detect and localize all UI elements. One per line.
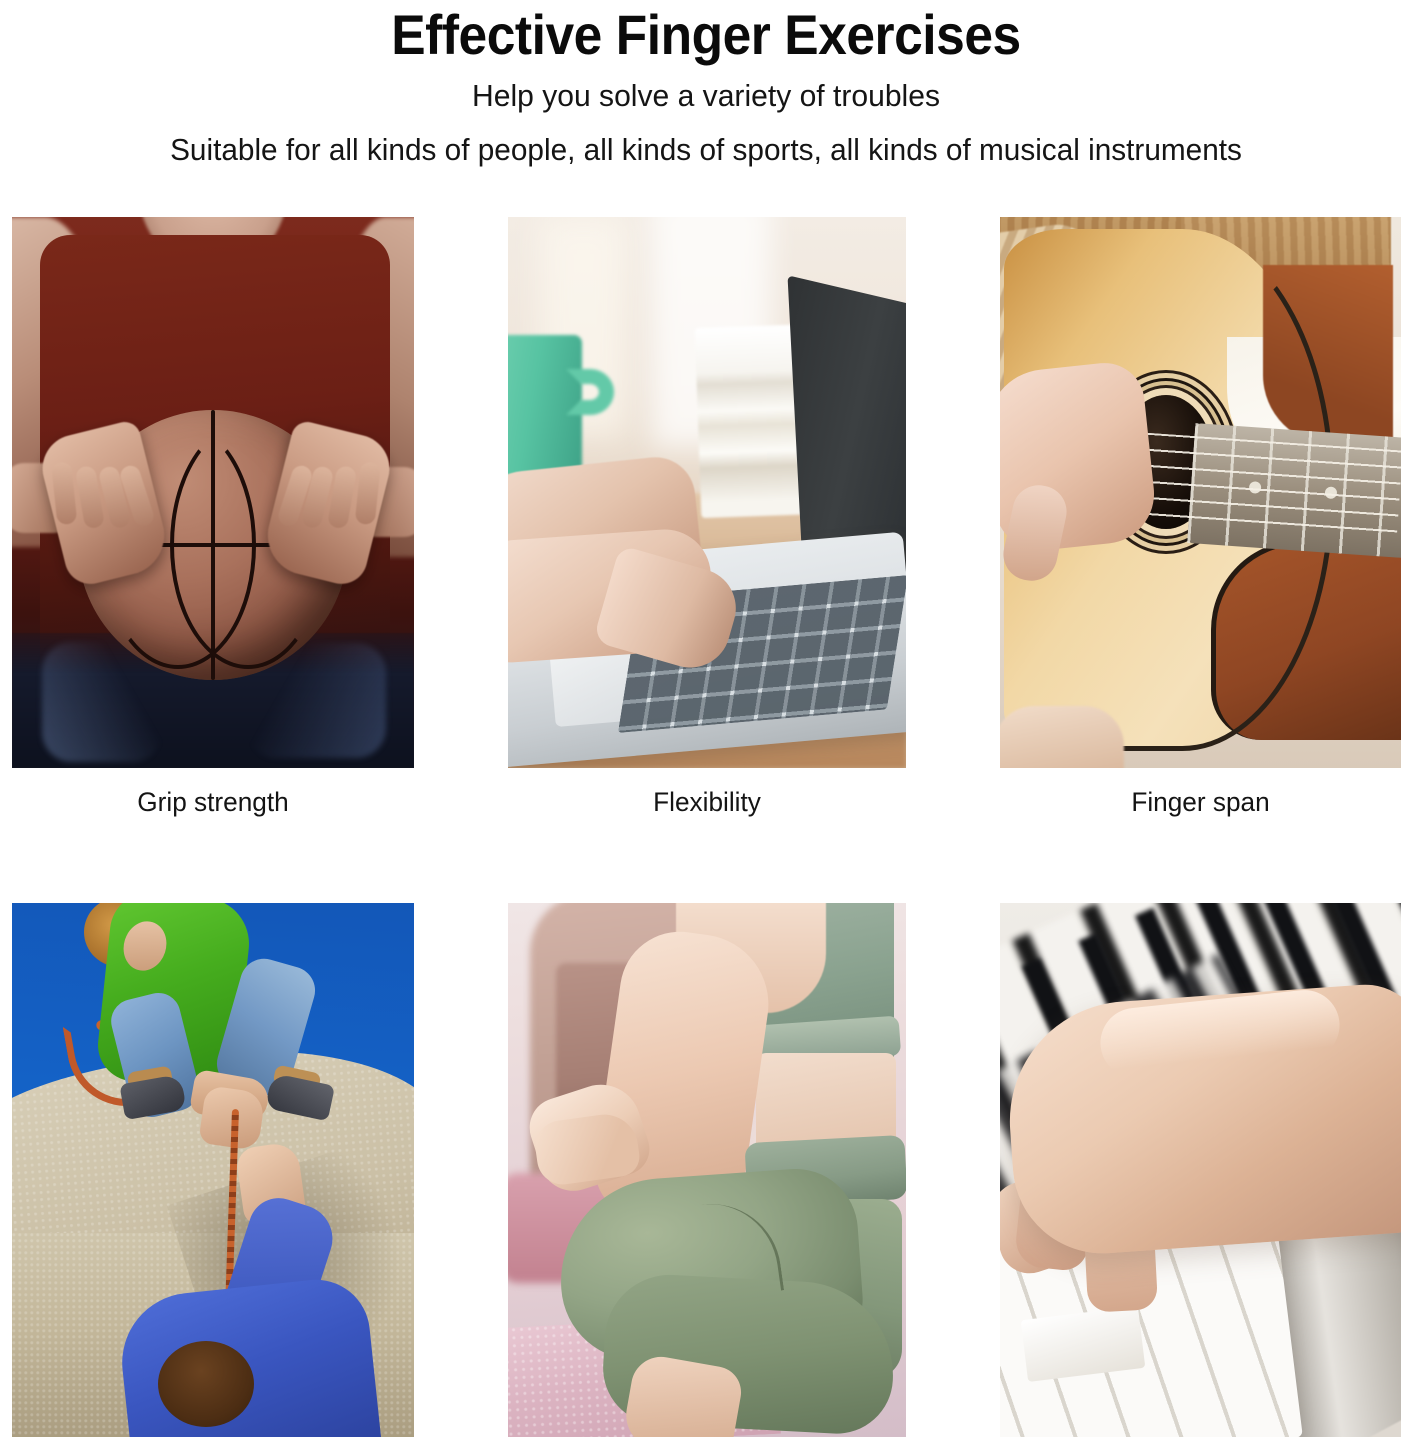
photo-basketball-grip <box>12 217 414 768</box>
gallery-item-coordination: Coordination <box>508 903 906 1444</box>
caption-grip-strength: Grip strength <box>18 785 408 819</box>
finger <box>355 461 381 525</box>
finger <box>51 461 77 525</box>
page-title: Effective Finger Exercises <box>56 4 1355 66</box>
photo-laptop-typing <box>508 217 906 768</box>
mug-handle <box>566 369 614 415</box>
caption-finger-span: Finger span <box>1006 785 1395 819</box>
gallery-item-intensity: Intensity <box>1000 903 1401 1444</box>
benefit-gallery: Grip strength Flexibility <box>12 217 1400 1444</box>
photo-rock-climbing <box>12 903 414 1437</box>
gallery-item-grip-strength: Grip strength <box>12 217 414 819</box>
subtitle-secondary: Suitable for all kinds of people, all ki… <box>28 130 1384 170</box>
caption-flexibility: Flexibility <box>514 785 900 819</box>
leg <box>1000 706 1124 768</box>
lower-climber-hair <box>158 1341 254 1427</box>
photo-guitar-playing <box>1000 217 1401 768</box>
photo-piano-playing <box>1000 903 1401 1437</box>
gallery-item-endurance: Endurance <box>12 903 414 1444</box>
product-infographic: Effective Finger Exercises Help you solv… <box>0 0 1412 1444</box>
gallery-item-finger-span: Finger span <box>1000 217 1401 819</box>
photo-yoga-meditation <box>508 903 906 1437</box>
gallery-item-flexibility: Flexibility <box>508 217 906 819</box>
subtitle-primary: Help you solve a variety of troubles <box>21 76 1391 116</box>
header: Effective Finger Exercises Help you solv… <box>0 0 1412 170</box>
